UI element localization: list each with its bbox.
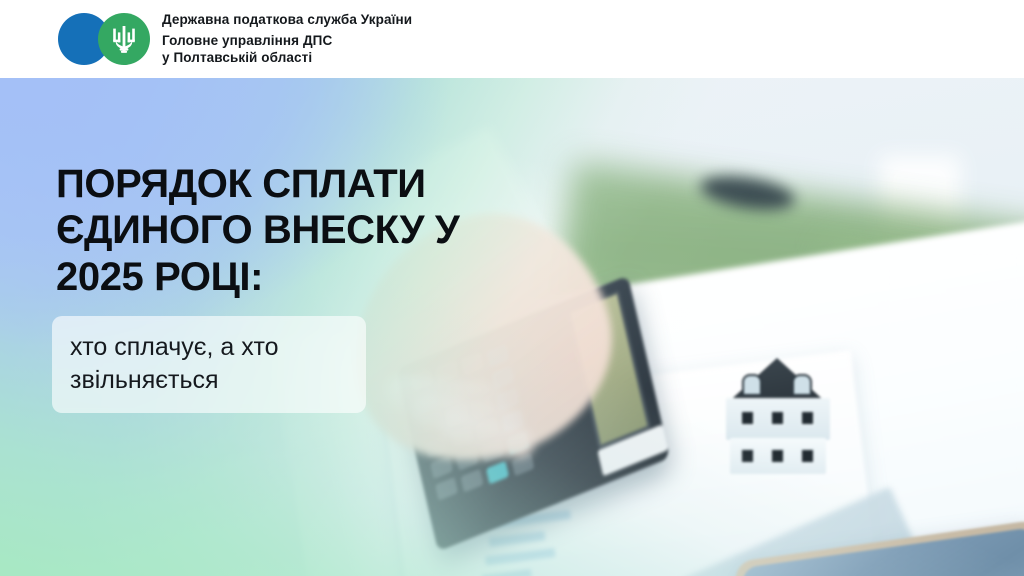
org-title-main: Державна податкова служба України [162,11,412,29]
headline-line-3: 2025 РОЦІ: [56,254,526,300]
subtitle-box: хто сплачує, а хто звільняється [52,316,366,413]
org-title-region: у Полтавській області [162,49,412,67]
site-header: Державна податкова служба України Головн… [0,0,1024,78]
page-title: ПОРЯДОК СПЛАТИ ЄДИНОГО ВНЕСКУ У 2025 РОЦ… [56,161,526,300]
org-title-department: Головне управління ДПС [162,32,412,50]
ukraine-trident-icon [98,13,150,65]
hero-copy: ПОРЯДОК СПЛАТИ ЄДИНОГО ВНЕСКУ У 2025 РОЦ… [0,78,1024,576]
organization-name: Державна податкова служба України Головн… [162,11,412,67]
hero-banner: ПОРЯДОК СПЛАТИ ЄДИНОГО ВНЕСКУ У 2025 РОЦ… [0,78,1024,576]
banner-page: Державна податкова служба України Головн… [0,0,1024,576]
headline-line-2: ЄДИНОГО ВНЕСКУ У [56,207,526,253]
subtitle-line-2: звільняється [70,364,346,397]
dps-logo[interactable] [58,11,150,67]
headline-line-1: ПОРЯДОК СПЛАТИ [56,161,526,207]
page-subtitle: хто сплачує, а хто звільняється [70,331,346,396]
subtitle-line-1: хто сплачує, а хто [70,331,346,364]
